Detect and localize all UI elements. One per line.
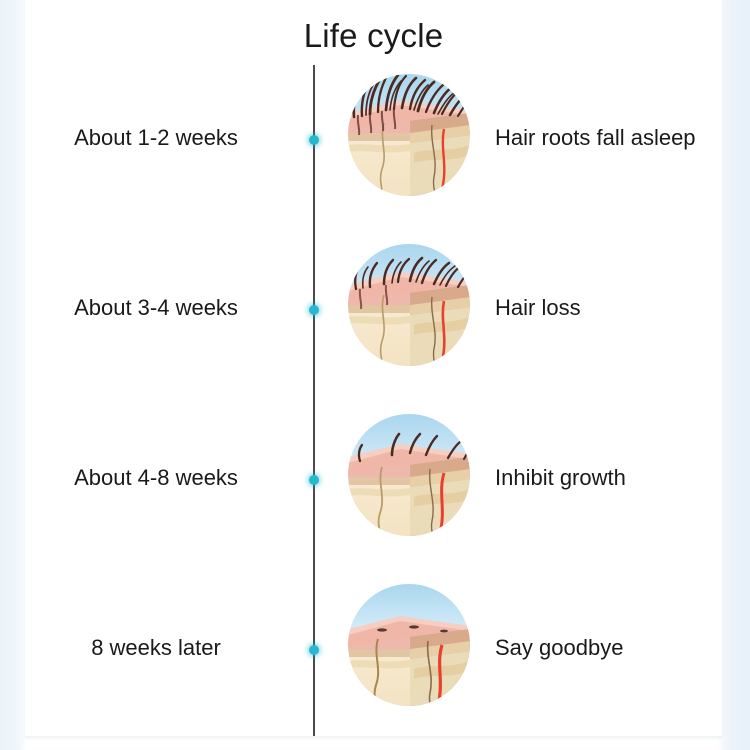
timeline-time-label: About 3-4 weeks: [25, 293, 287, 323]
timeline-description: Hair roots fall asleep: [495, 123, 725, 153]
timeline-time-label: About 1-2 weeks: [25, 123, 287, 153]
timeline-row: About 4-8 weeks: [25, 395, 722, 565]
skin-cross-section-thinning-hair-icon: [348, 243, 470, 367]
page-root: Life cycle About 1-2 weeks: [0, 0, 750, 750]
timeline-dot: [309, 305, 319, 315]
content-card: Life cycle About 1-2 weeks: [25, 0, 722, 736]
timeline-row: About 3-4 weeks: [25, 225, 722, 395]
timeline-dot: [309, 135, 319, 145]
timeline-time-label: About 4-8 weeks: [25, 463, 287, 493]
timeline-row: About 1-2 weeks: [25, 55, 722, 225]
timeline-time-label: 8 weeks later: [25, 633, 287, 663]
skin-cross-section-full-hair-icon: [348, 73, 470, 197]
skin-cross-section-sparse-hair-icon: [348, 413, 470, 537]
timeline-dot: [309, 475, 319, 485]
page-title: Life cycle: [25, 16, 722, 56]
timeline-dot: [309, 645, 319, 655]
timeline-description: Inhibit growth: [495, 463, 725, 493]
timeline-row: 8 weeks later: [25, 565, 722, 735]
timeline-description: Hair loss: [495, 293, 725, 323]
timeline-description: Say goodbye: [495, 633, 725, 663]
skin-cross-section-no-hair-icon: [348, 583, 470, 707]
